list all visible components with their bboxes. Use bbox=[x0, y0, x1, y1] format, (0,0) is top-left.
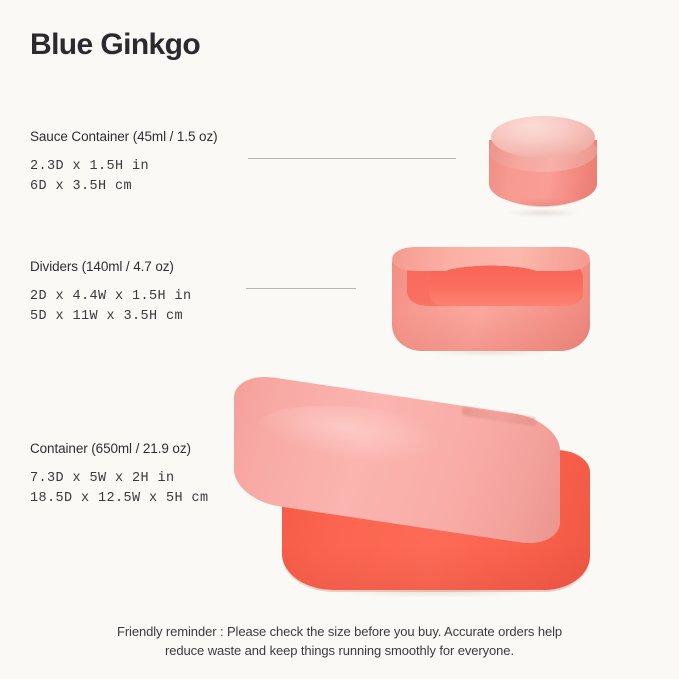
leader-line-sauce-container bbox=[248, 158, 456, 159]
sauce-container-lid-top bbox=[491, 116, 595, 158]
spec-dimensions-cm-dividers: 5D x 11W x 3.5H cm bbox=[30, 307, 192, 327]
product-size-guide: Blue Ginkgo Sauce Container (45ml / 1.5 … bbox=[0, 0, 679, 679]
sauce-container-shadow bbox=[491, 206, 595, 220]
spec-title-sauce-container: Sauce Container (45ml / 1.5 oz) bbox=[30, 129, 218, 144]
spec-title-dividers: Dividers (140ml / 4.7 oz) bbox=[30, 259, 192, 274]
spec-dimensions-inches-container: 7.3D x 5W x 2H in bbox=[30, 469, 209, 489]
spec-dimensions-inches-dividers: 2D x 4.4W x 1.5H in bbox=[30, 287, 192, 307]
footer-reminder-line-2: reduce waste and keep things running smo… bbox=[0, 641, 679, 660]
brand-logo: Blue Ginkgo bbox=[30, 28, 200, 62]
spec-title-container: Container (650ml / 21.9 oz) bbox=[30, 441, 209, 456]
dividers-front-shading bbox=[392, 311, 590, 351]
spec-block-sauce-container: Sauce Container (45ml / 1.5 oz) 2.3D x 1… bbox=[30, 129, 218, 197]
footer-reminder: Friendly reminder : Please check the siz… bbox=[0, 622, 679, 660]
spec-block-dividers: Dividers (140ml / 4.7 oz) 2D x 4.4W x 1.… bbox=[30, 259, 192, 327]
product-image-dividers bbox=[392, 247, 590, 357]
spec-dimensions-cm-sauce-container: 6D x 3.5H cm bbox=[30, 177, 218, 197]
footer-reminder-line-1: Friendly reminder : Please check the siz… bbox=[0, 622, 679, 641]
spec-dimensions-inches-sauce-container: 2.3D x 1.5H in bbox=[30, 157, 218, 177]
product-image-sauce-container bbox=[489, 114, 597, 218]
container-base-shading bbox=[282, 546, 590, 592]
spec-block-container: Container (650ml / 21.9 oz) 7.3D x 5W x … bbox=[30, 441, 209, 509]
leader-line-dividers bbox=[246, 288, 356, 289]
spec-dimensions-cm-container: 18.5D x 12.5W x 5H cm bbox=[30, 489, 209, 509]
product-image-container bbox=[234, 396, 590, 602]
dividers-top-rim bbox=[392, 247, 590, 271]
